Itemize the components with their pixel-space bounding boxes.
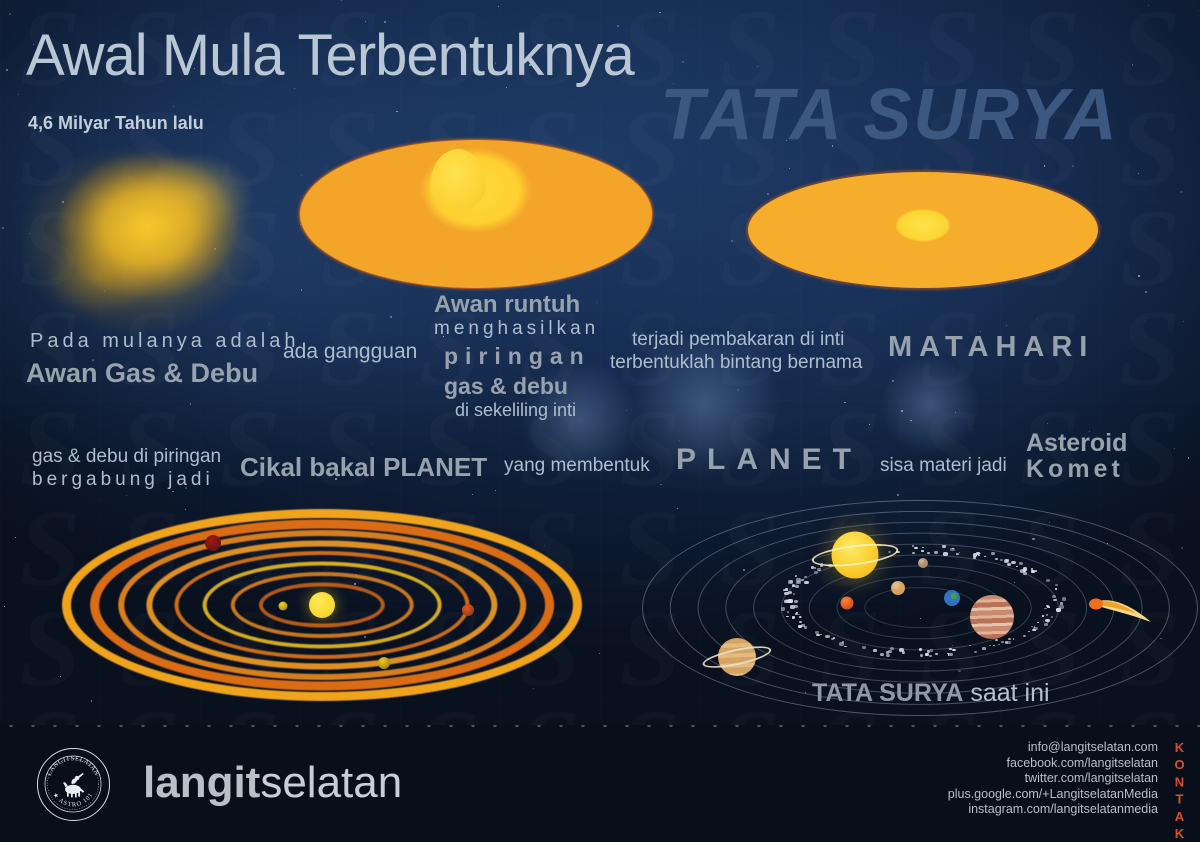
asteroid-belt-dot <box>820 565 823 567</box>
brand-light: selatan <box>260 758 402 807</box>
planet-mars <box>841 597 854 610</box>
asteroid-belt-dot <box>821 563 822 564</box>
asteroid-belt-dot <box>1062 597 1067 601</box>
asteroid-belt-dot <box>796 581 801 584</box>
footer-divider <box>0 725 1200 727</box>
contact-link[interactable]: twitter.com/langitselatan <box>948 771 1158 787</box>
protoplanet <box>462 604 474 616</box>
svg-text:LANGITSELATAN: LANGITSELATAN <box>46 755 100 777</box>
step6-caption: yang membentuk <box>504 455 650 477</box>
step3-line2: menghasilkan <box>434 318 599 340</box>
contact-link[interactable]: info@langitselatan.com <box>948 740 1158 756</box>
asteroid-belt-dot <box>890 647 894 650</box>
asteroid-belt-dot <box>948 653 953 656</box>
step4-result-matahari: MATAHARI <box>888 331 1094 364</box>
asteroid-belt-dot <box>1031 570 1035 573</box>
step3-line3: piringan <box>444 343 591 370</box>
asteroid-belt-dot <box>982 647 986 650</box>
asteroid-belt-dot <box>1053 599 1057 602</box>
infographic-canvas: SSSSSSSSSSSSSSSSSSSSSSSSSSSSSSSSSSSSSSSS… <box>0 0 1200 842</box>
asteroid-belt-dot <box>993 645 995 646</box>
asteroid-belt-dot <box>950 548 954 551</box>
asteroid-belt-dot <box>976 552 980 555</box>
planet-jupiter <box>970 595 1014 639</box>
gas-dust-cloud-illustration <box>22 120 284 342</box>
asteroid-belt-dot <box>1005 641 1008 644</box>
proto-solar-system-illustration <box>62 505 582 705</box>
step6-result-planet: PLANET <box>676 443 862 477</box>
asteroid-belt-dot <box>880 653 884 656</box>
planet-venus <box>891 581 905 595</box>
planet-comet <box>1089 592 1159 628</box>
asteroid-belt-dot <box>781 607 785 610</box>
contact-link[interactable]: instagram.com/langitselatanmedia <box>948 802 1158 818</box>
page-title-emphasis: TATA SURYA <box>660 74 1119 156</box>
asteroid-belt-dot <box>1051 616 1054 618</box>
asteroid-belt-dot <box>788 580 793 584</box>
step3-line5: di sekeliling inti <box>455 400 576 421</box>
planet-sun <box>832 532 879 579</box>
asteroid-belt-dot <box>921 550 923 552</box>
asteroid-belt-dot <box>817 568 821 571</box>
asteroid-belt-dot <box>793 593 795 594</box>
asteroid-belt-dot <box>998 644 1000 645</box>
asteroid-belt-dot <box>1008 638 1011 640</box>
asteroid-belt-dot <box>814 571 818 574</box>
brand-wordmark: langitselatan <box>143 758 402 808</box>
asteroid-belt-dot <box>930 649 933 652</box>
step1-caption-bold: Awan Gas & Debu <box>26 358 258 389</box>
asteroid-belt-dot <box>943 552 948 556</box>
asteroid-belt-dot <box>927 650 930 652</box>
step4-line2: terbentuklah bintang bernama <box>610 352 862 374</box>
asteroid-belt-dot <box>956 553 959 555</box>
asteroid-belt-dot <box>801 624 805 627</box>
asteroid-belt-dot <box>1007 563 1011 566</box>
step5-line1: gas & debu di piringan <box>32 446 221 468</box>
asteroid-belt-dot <box>912 552 915 554</box>
step4-line1: terjadi pembakaran di inti <box>632 329 844 351</box>
step5-line2: bergabung jadi <box>32 469 214 491</box>
protoplanet <box>378 657 390 669</box>
star-forming-disk-illustration <box>748 172 1098 288</box>
protostar-core <box>309 592 335 618</box>
asteroid-belt-dot <box>801 579 803 581</box>
asteroid-belt-dot <box>804 581 809 584</box>
planet-saturn <box>718 638 756 676</box>
asteroid-belt-dot <box>1037 622 1039 623</box>
protoplanet <box>205 535 221 551</box>
protoplanetary-disk-illustration <box>300 140 652 288</box>
asteroid-belt-dot <box>799 616 801 617</box>
asteroid-belt-dot <box>790 605 795 608</box>
asteroid-belt-dot <box>914 547 917 550</box>
asteroid-belt-dot <box>1047 621 1049 622</box>
asteroid-belt-dot <box>1059 605 1064 609</box>
solar-system-label-bold: TATA SURYA <box>812 679 963 707</box>
contact-link[interactable]: plus.google.com/+LangitselatanMedia <box>948 787 1158 803</box>
asteroid-belt-dot <box>1023 572 1027 575</box>
asteroid-belt-dot <box>902 651 905 653</box>
planet-earth <box>944 590 960 606</box>
asteroid-belt-dot <box>784 600 788 603</box>
asteroid-belt-dot <box>1016 566 1018 567</box>
brand-bold: langit <box>143 758 260 807</box>
asteroid-belt-dot <box>947 653 949 654</box>
protoplanet <box>279 602 288 611</box>
step3-line1: Awan runtuh <box>434 291 580 319</box>
page-title: Awal Mula Terbentuknya <box>26 22 634 89</box>
step3-line4: gas & debu <box>444 373 568 400</box>
step1-caption-light: Pada mulanya adalah <box>30 330 299 353</box>
step7-result-komet: Komet <box>1026 455 1124 484</box>
step2-caption: ada gangguan <box>283 340 417 364</box>
asteroid-belt-dot <box>1034 629 1036 631</box>
asteroid-belt-dot <box>792 618 794 619</box>
asteroid-belt-dot <box>783 589 786 591</box>
orbit-line <box>864 587 976 629</box>
step7-result-asteroid: Asteroid <box>1026 429 1127 458</box>
asteroid-belt-dot <box>888 551 891 553</box>
asteroid-belt-dot <box>886 651 890 654</box>
asteroid-belt-dot <box>973 556 976 559</box>
asteroid-belt-dot <box>935 653 938 655</box>
langitselatan-logo-icon: LANGITSELATAN ★ ASTRO 101 <box>37 748 110 821</box>
step7-caption: sisa materi jadi <box>880 455 1007 477</box>
asteroid-belt-dot <box>949 648 952 650</box>
contact-list: info@langitselatan.comfacebook.com/langi… <box>948 740 1158 818</box>
solar-system-label-light: saat ini <box>970 679 1049 707</box>
asteroid-belt-dot <box>1046 579 1050 582</box>
kontak-vertical-label: KONTAK <box>1170 740 1186 842</box>
asteroid-belt-dot <box>795 613 798 615</box>
solar-system-label: TATA SURYA saat ini <box>812 679 1050 708</box>
asteroid-belt-dot <box>927 552 930 554</box>
contact-link[interactable]: facebook.com/langitselatan <box>948 756 1158 772</box>
asteroid-belt-dot <box>787 616 789 617</box>
disk-core-bulge <box>430 149 486 209</box>
asteroid-belt-dot <box>825 635 829 638</box>
asteroid-belt-dot <box>831 638 834 640</box>
planet-mercury <box>918 558 928 568</box>
asteroid-belt-dot <box>934 551 938 554</box>
nebula-glow-spot <box>880 355 980 455</box>
step5-result-cikal-bakal-planet: Cikal bakal PLANET <box>240 452 487 483</box>
asteroid-belt-dot <box>799 621 802 623</box>
